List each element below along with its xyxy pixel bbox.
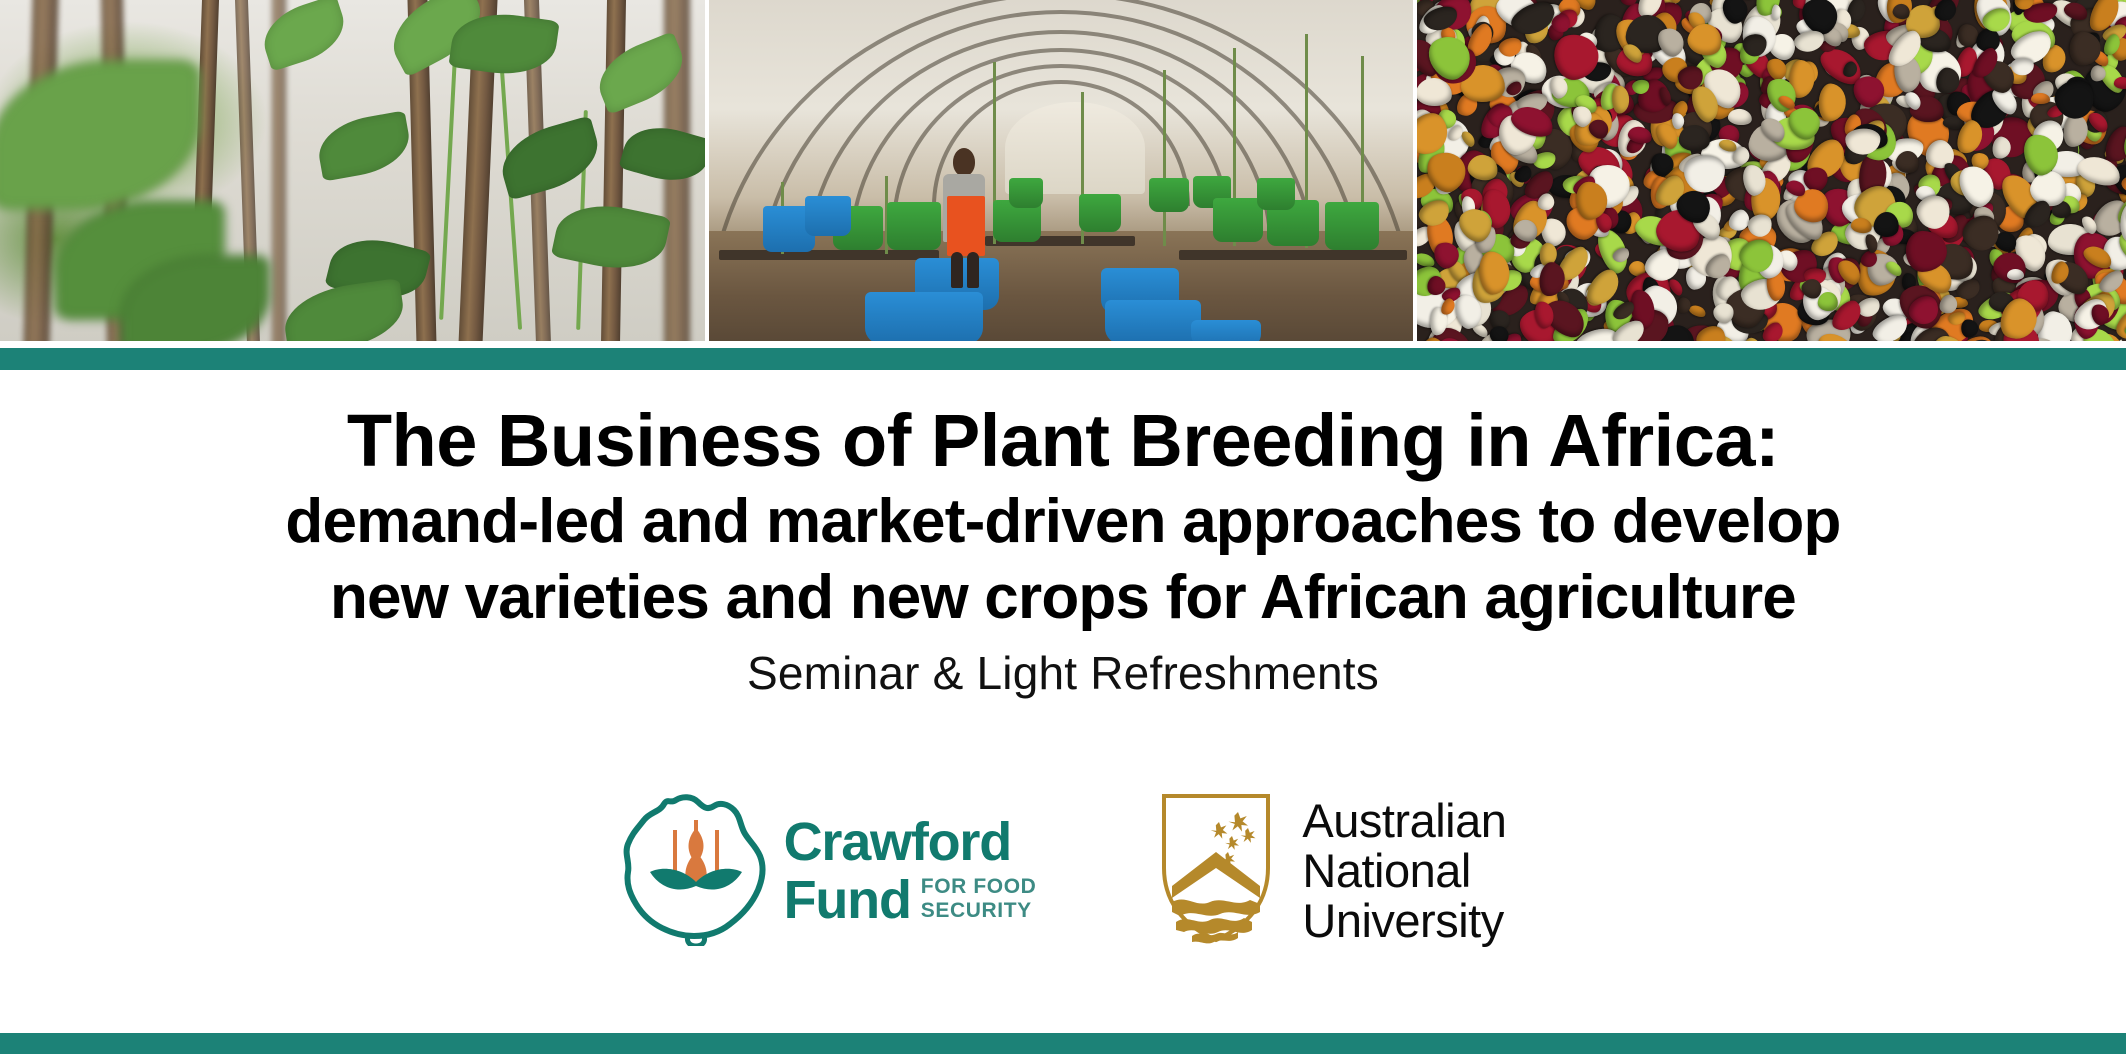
crawford-fund-wordmark: Crawford Fund FOR FOOD SECURITY (784, 813, 1037, 929)
title-line-3: new varieties and new crops for African … (0, 560, 2126, 636)
hero-image-strip (0, 0, 2126, 341)
title-line-1: The Business of Plant Breeding in Africa… (0, 398, 2126, 484)
flyer-content: The Business of Plant Breeding in Africa… (0, 370, 2126, 1033)
anu-wordmark-line-3: University (1302, 896, 1506, 946)
teal-divider-bottom (0, 1033, 2126, 1054)
seminar-flyer: The Business of Plant Breeding in Africa… (0, 0, 2126, 1063)
crawford-word: Crawford (784, 813, 1011, 871)
anu-wordmark-line-1: Australian (1302, 796, 1506, 846)
anu-wordmark-line-2: National (1302, 846, 1506, 896)
crawford-tagline-line-2: SECURITY (921, 899, 1037, 923)
anu-shield-icon (1156, 790, 1276, 951)
crawford-tagline-line-1: FOR FOOD (921, 875, 1037, 899)
hero-image-assorted-bean-seeds (1417, 0, 2126, 341)
anu-wordmark: Australian National University (1302, 796, 1506, 946)
crawford-tagline: FOR FOOD SECURITY (921, 875, 1037, 923)
teal-divider-top (0, 348, 2126, 370)
australia-map-icon (620, 790, 772, 951)
title-line-2: demand-led and market-driven approaches … (0, 484, 2126, 560)
hero-image-climbing-bean-plants (0, 0, 705, 341)
fund-word: Fund (784, 871, 911, 929)
anu-logo: Australian National University (1156, 790, 1506, 951)
crawford-fund-logo: Crawford Fund FOR FOOD SECURITY (620, 790, 1037, 951)
hero-image-greenhouse-polytunnel (709, 0, 1414, 341)
event-subtitle: Seminar & Light Refreshments (0, 646, 2126, 700)
logo-row: Crawford Fund FOR FOOD SECURITY (0, 790, 2126, 951)
page-title: The Business of Plant Breeding in Africa… (0, 398, 2126, 636)
